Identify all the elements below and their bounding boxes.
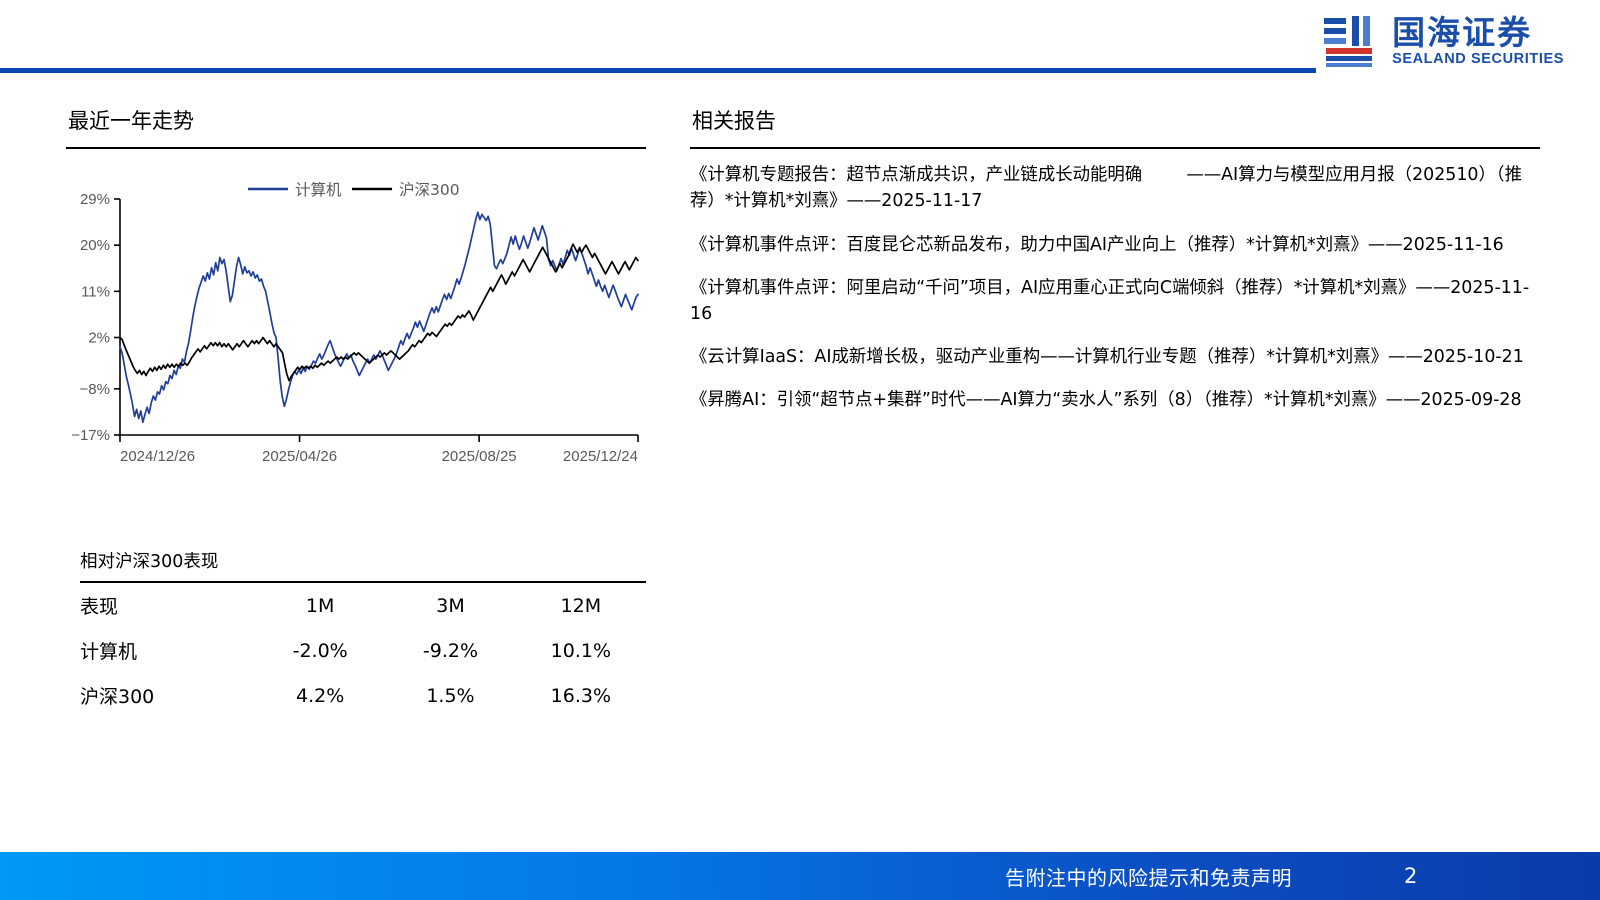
page-footer: 告附注中的风险提示和免责声明 2 [0,852,1600,900]
svg-text:2025/08/25: 2025/08/25 [442,448,517,465]
svg-text:2024/12/26: 2024/12/26 [120,448,195,465]
cell-3m: 1.5% [385,673,515,718]
svg-text:−17%: −17% [71,427,110,444]
related-reports-section: 相关报告 《计算机专题报告：超节点渐成共识，产业链成长动能明确 ——AI算力与模… [690,108,1540,430]
reports-title-divider [690,147,1540,149]
list-item[interactable]: 《昇腾AI：引领“超节点+集群”时代——AI算力“卖水人”系列（8）（推荐）*计… [690,387,1540,413]
chart-title-divider [66,147,646,149]
cell-12m: 16.3% [516,673,646,718]
svg-text:2025/12/24: 2025/12/24 [563,448,638,465]
svg-text:2025/04/26: 2025/04/26 [262,448,337,465]
svg-text:计算机: 计算机 [295,180,342,199]
col-header-12m: 12M [516,582,646,628]
list-item[interactable]: 《计算机事件点评：阿里启动“千问”项目，AI应用重心正式向C端倾斜（推荐）*计算… [690,275,1540,327]
cell-1m: 4.2% [255,673,385,718]
cell-12m: 10.1% [516,628,646,673]
chart-section-title: 最近一年走势 [68,108,646,135]
table-row: 计算机 -2.0% -9.2% 10.1% [80,628,646,673]
company-logo: 国海证券 SEALAND SECURITIES [1320,12,1564,72]
col-header-metric: 表现 [80,582,255,628]
svg-text:20%: 20% [80,237,110,254]
row-label: 沪深300 [80,673,255,718]
reports-section-title: 相关报告 [692,108,1540,135]
svg-text:11%: 11% [81,284,110,301]
relative-performance-section: 相对沪深300表现 表现 1M 3M 12M 计算机 -2.0% -9.2% 1… [80,548,646,718]
table-row: 沪深300 4.2% 1.5% 16.3% [80,673,646,718]
svg-text:29%: 29% [80,191,110,208]
left-column: 最近一年走势 29%20%11%2%−8%−17%2024/12/262025/… [66,108,646,493]
svg-text:−8%: −8% [80,381,110,398]
svg-text:沪深300: 沪深300 [399,181,460,199]
page-number: 2 [1404,864,1417,888]
page-header: 国海证券 SEALAND SECURITIES [0,0,1600,92]
logo-company-name-cn: 国海证券 [1392,16,1564,51]
row-label: 计算机 [80,628,255,673]
header-accent-rule [0,68,1316,73]
svg-text:2%: 2% [88,330,110,347]
cell-1m: -2.0% [255,628,385,673]
table-header-row: 表现 1M 3M 12M [80,582,646,628]
col-header-1m: 1M [255,582,385,628]
report-list: 《计算机专题报告：超节点渐成共识，产业链成长动能明确 ——AI算力与模型应用月报… [690,162,1540,413]
perf-section-title: 相对沪深300表现 [80,548,646,573]
trend-chart: 29%20%11%2%−8%−17%2024/12/262025/04/2620… [66,163,646,493]
sealand-logo-icon [1320,12,1380,72]
footer-disclaimer-text: 告附注中的风险提示和免责声明 [1005,862,1292,891]
list-item[interactable]: 《云计算IaaS：AI成新增长极，驱动产业重构——计算机行业专题（推荐）*计算机… [690,344,1540,370]
col-header-3m: 3M [385,582,515,628]
cell-3m: -9.2% [385,628,515,673]
performance-table: 表现 1M 3M 12M 计算机 -2.0% -9.2% 10.1% 沪深300… [80,581,646,718]
list-item[interactable]: 《计算机专题报告：超节点渐成共识，产业链成长动能明确 ——AI算力与模型应用月报… [690,162,1540,214]
list-item[interactable]: 《计算机事件点评：百度昆仑芯新品发布，助力中国AI产业向上（推荐）*计算机*刘熹… [690,232,1540,258]
logo-company-name-en: SEALAND SECURITIES [1392,52,1564,68]
